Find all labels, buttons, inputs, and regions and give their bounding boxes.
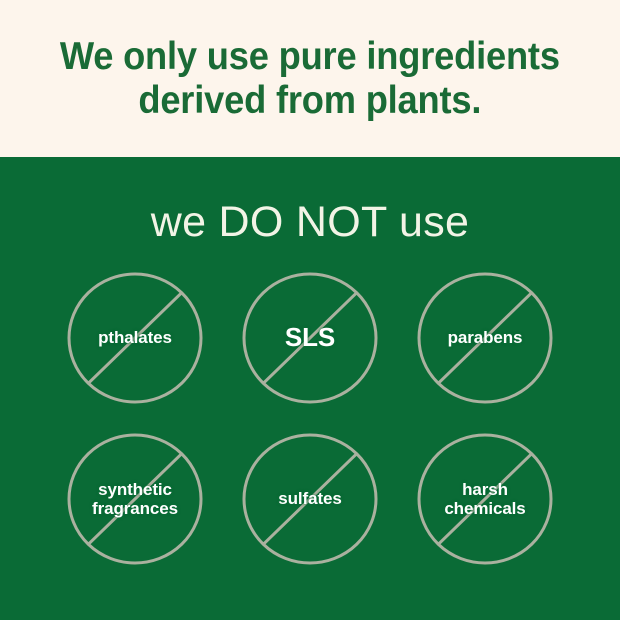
- page-title: We only use pure ingredients derived fro…: [60, 35, 560, 122]
- badge-grid: pthalates SLS: [0, 270, 620, 567]
- badge-pthalates: pthalates: [66, 270, 204, 406]
- badge-label: synthetic fragrances: [92, 480, 178, 518]
- badge-row-1: pthalates SLS: [0, 270, 620, 406]
- do-not-use-section: we DO NOT use pthalates: [0, 157, 620, 620]
- badge-synthetic-fragrances: synthetic fragrances: [66, 431, 204, 567]
- badge-sls: SLS: [241, 270, 379, 406]
- badge-label: sulfates: [278, 489, 341, 508]
- badge-sulfates: sulfates: [241, 431, 379, 567]
- badge-label: pthalates: [98, 328, 172, 347]
- section-subtitle: we DO NOT use: [0, 201, 620, 244]
- badge-label: SLS: [285, 323, 335, 352]
- badge-harsh-chemicals: harsh chemicals: [416, 431, 554, 567]
- badge-label: harsh chemicals: [444, 480, 525, 518]
- badge-row-2: synthetic fragrances sulfates: [0, 431, 620, 567]
- promo-poster: We only use pure ingredients derived fro…: [0, 0, 620, 620]
- badge-label: parabens: [448, 328, 523, 347]
- header-band: We only use pure ingredients derived fro…: [0, 0, 620, 157]
- badge-parabens: parabens: [416, 270, 554, 406]
